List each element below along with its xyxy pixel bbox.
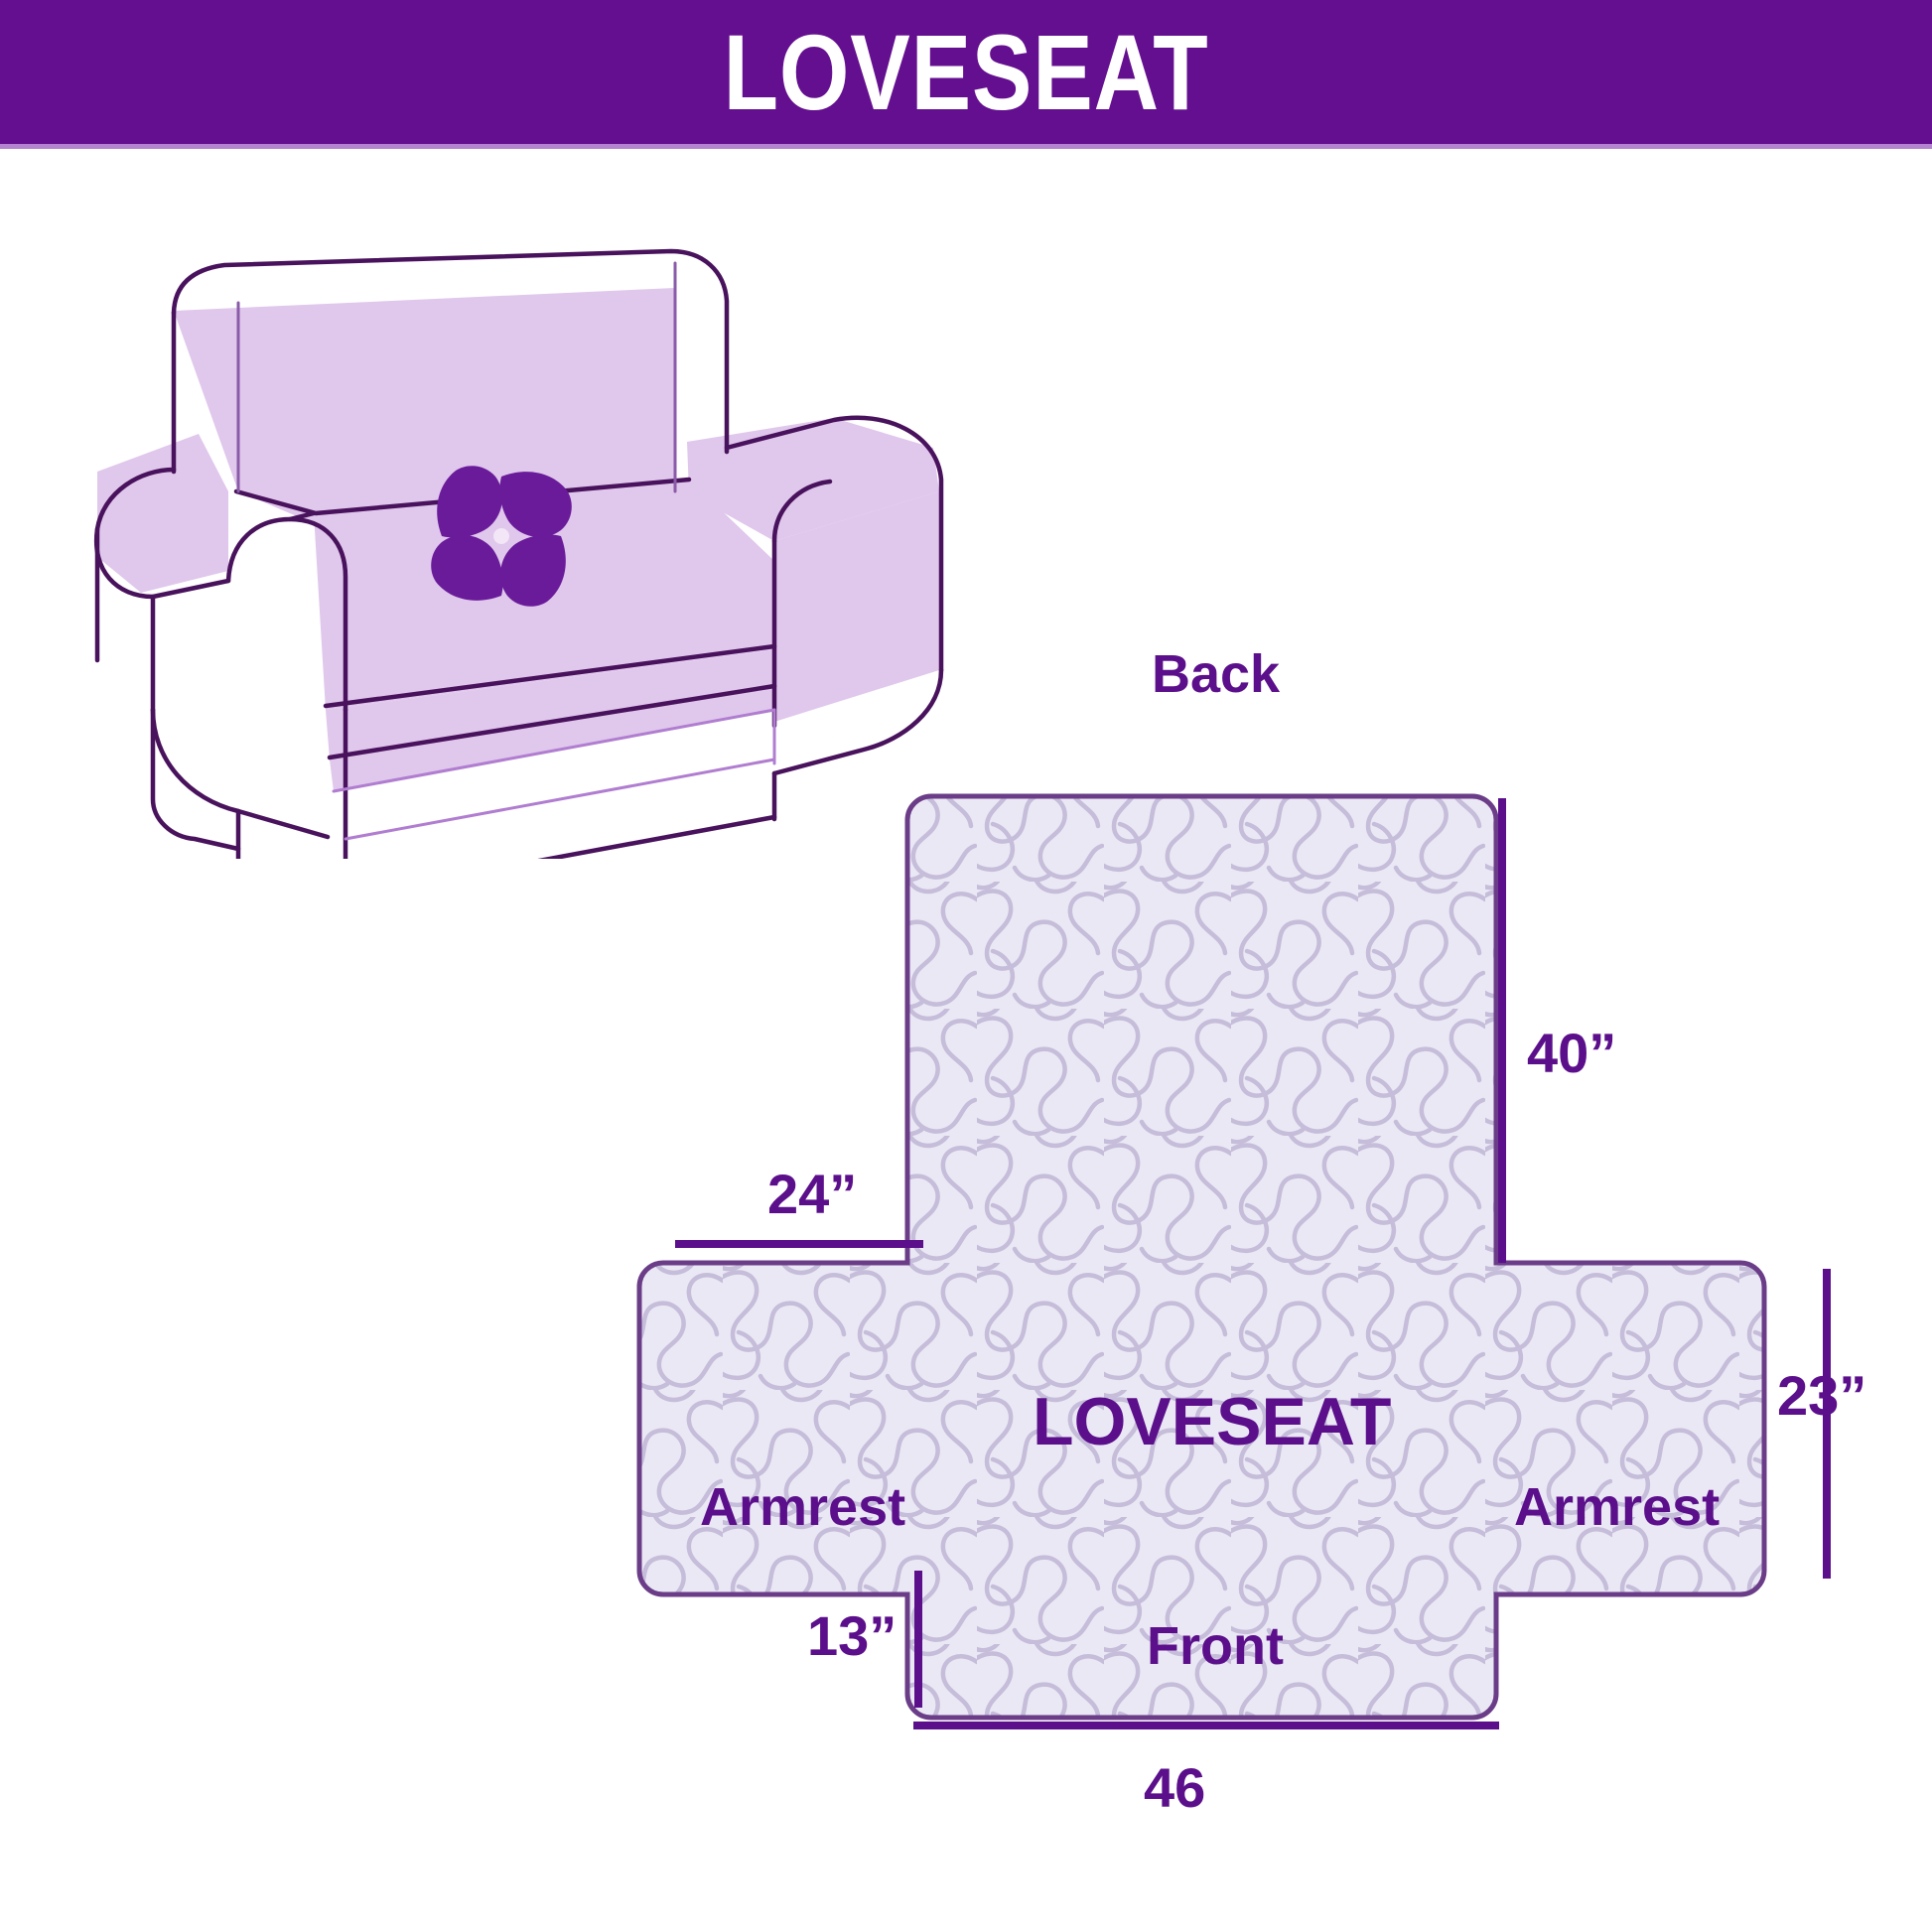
header-banner: LOVESEAT: [0, 0, 1932, 144]
page-title: LOVESEAT: [724, 19, 1209, 126]
dimension-label-front-height: 13”: [807, 1608, 897, 1664]
dimension-label-back-width: 24”: [767, 1167, 857, 1222]
loveseat-cover-shape: [639, 796, 1764, 1718]
panel-label-armrest-right: Armrest: [1514, 1480, 1720, 1534]
panel-label-front: Front: [1147, 1619, 1284, 1673]
cover-pattern-diagram: [596, 755, 1932, 1876]
loveseat-size-guide-page: LOVESEAT: [0, 0, 1932, 1932]
header-underline-divider: [0, 144, 1932, 149]
pattern-center-label: LOVESEAT: [1033, 1388, 1391, 1455]
dimension-label-total-width: 46: [1144, 1760, 1205, 1816]
panel-label-back: Back: [1152, 647, 1280, 701]
dimension-label-back-height: 40”: [1527, 1026, 1616, 1081]
panel-label-armrest-left: Armrest: [700, 1480, 905, 1534]
pinwheel-fan-icon: [431, 466, 572, 607]
dimension-label-armrest-height: 23”: [1777, 1368, 1866, 1424]
